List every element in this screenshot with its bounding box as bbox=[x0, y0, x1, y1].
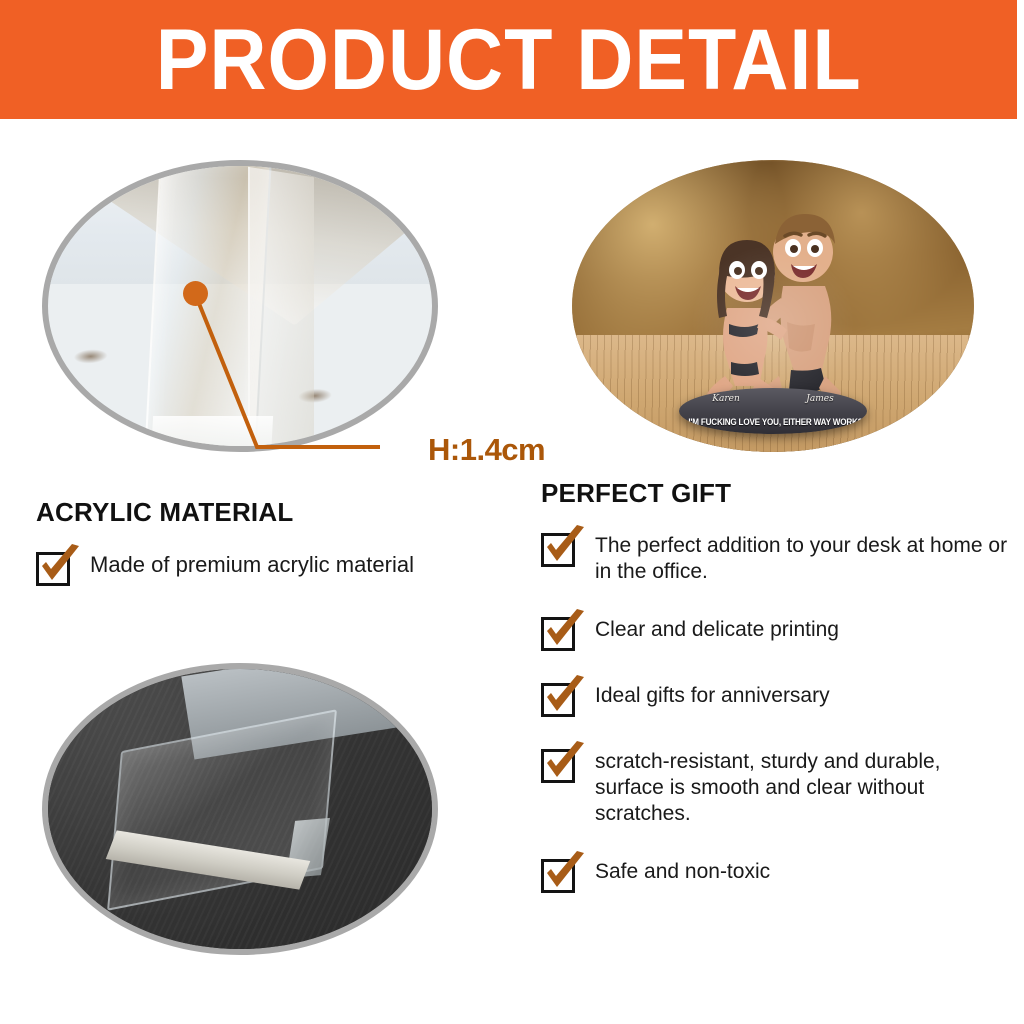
measurement-anchor-dot bbox=[183, 281, 208, 306]
acrylic-material-title: ACRYLIC MATERIAL bbox=[36, 497, 506, 528]
check-icon bbox=[540, 607, 588, 655]
photo-acrylic-edge-view bbox=[42, 160, 438, 452]
acrylic-side-face bbox=[248, 167, 314, 452]
feature-label: Safe and non-toxic bbox=[595, 857, 770, 885]
page-title: PRODUCT DETAIL bbox=[156, 17, 862, 103]
perfect-gift-section: PERFECT GIFT The perfect addition to you… bbox=[541, 478, 1011, 923]
product-name-base: Karen James I'M FUCKING LOVE YOU, EITHER… bbox=[679, 388, 867, 434]
perfect-gift-title: PERFECT GIFT bbox=[541, 478, 1011, 509]
feature-item: Safe and non-toxic bbox=[541, 857, 1011, 893]
acrylic-base-reflection bbox=[151, 416, 273, 452]
photo-product-view: Karen James I'M FUCKING LOVE YOU, EITHER… bbox=[572, 160, 974, 452]
feature-item: Made of premium acrylic material bbox=[36, 550, 506, 586]
base-names: Karen James bbox=[679, 394, 867, 404]
checkbox-checked[interactable] bbox=[541, 533, 575, 567]
checkbox-checked[interactable] bbox=[541, 617, 575, 651]
check-icon bbox=[35, 542, 83, 590]
feature-label: Clear and delicate printing bbox=[595, 615, 839, 643]
photo-acrylic-block-view bbox=[42, 663, 438, 955]
feature-label: The perfect addition to your desk at hom… bbox=[595, 531, 1011, 585]
check-icon bbox=[540, 523, 588, 571]
feature-item: scratch-resistant, sturdy and durable, s… bbox=[541, 747, 1011, 827]
feature-item: Ideal gifts for anniversary bbox=[541, 681, 1011, 717]
wood-knot bbox=[72, 348, 107, 364]
base-caption: I'M FUCKING LOVE YOU, EITHER WAY WORKS bbox=[688, 417, 857, 427]
check-icon bbox=[540, 673, 588, 721]
check-icon bbox=[540, 739, 588, 787]
measurement-label: H:1.4cm bbox=[428, 432, 545, 468]
feature-label: Ideal gifts for anniversary bbox=[595, 681, 830, 709]
checkbox-checked[interactable] bbox=[541, 749, 575, 783]
checkbox-checked[interactable] bbox=[541, 859, 575, 893]
feature-item: The perfect addition to your desk at hom… bbox=[541, 531, 1011, 585]
base-name-left: Karen bbox=[712, 394, 740, 404]
feature-label: Made of premium acrylic material bbox=[90, 550, 414, 578]
feature-item: Clear and delicate printing bbox=[541, 615, 1011, 651]
page-header-banner: PRODUCT DETAIL bbox=[0, 0, 1017, 119]
check-icon bbox=[540, 849, 588, 897]
acrylic-glow bbox=[688, 242, 858, 407]
checkbox-checked[interactable] bbox=[541, 683, 575, 717]
feature-label: scratch-resistant, sturdy and durable, s… bbox=[595, 747, 1011, 827]
base-name-right: James bbox=[806, 394, 833, 404]
couple-figurine bbox=[675, 190, 871, 406]
acrylic-material-section: ACRYLIC MATERIAL Made of premium acrylic… bbox=[36, 497, 506, 612]
checkbox-checked[interactable] bbox=[36, 552, 70, 586]
